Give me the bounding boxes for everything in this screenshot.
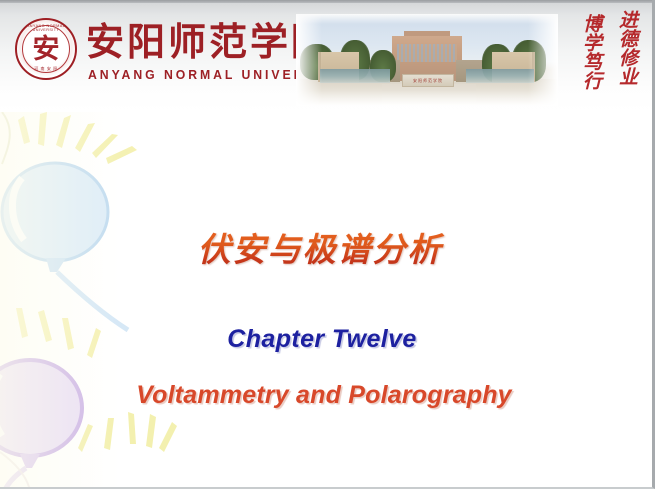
- photo-canopy-left: [320, 69, 390, 83]
- motto-right: 进德修业: [613, 10, 639, 86]
- slide-topic-english: Voltammetry and Polarography: [0, 380, 648, 410]
- slide-title-chinese: 伏安与极谱分析: [0, 230, 640, 270]
- presentation-slide: ANYANG NORMAL UNIVERSITY 安 河 南 安 阳 安阳师范学…: [0, 0, 655, 489]
- slide-chapter-label: Chapter Twelve: [0, 324, 644, 354]
- seal-bottom-text: 河 南 安 阳: [17, 66, 75, 72]
- university-seal-icon: ANYANG NORMAL UNIVERSITY 安 河 南 安 阳: [15, 18, 77, 80]
- photo-canopy-right: [466, 69, 534, 83]
- seal-center-glyph: 安: [17, 36, 75, 63]
- header-top-rule: [0, 0, 655, 3]
- slide-header-band: ANYANG NORMAL UNIVERSITY 安 河 南 安 阳 安阳师范学…: [0, 0, 655, 112]
- motto-left: 博学笃行: [577, 14, 603, 90]
- photo-gate-sign-text: 安阳师范学院: [403, 78, 453, 84]
- campus-gate-photo: 安阳师范学院: [296, 14, 558, 106]
- photo-fade-top: [296, 14, 558, 24]
- photo-fade-bottom: [296, 90, 558, 106]
- photo-gate-sign: 安阳师范学院: [402, 74, 454, 87]
- seal-arc-text: ANYANG NORMAL UNIVERSITY: [16, 24, 77, 32]
- slide-title-block: 伏安与极谱分析 Chapter Twelve Voltammetry and P…: [0, 112, 655, 489]
- photo-building-windows: [397, 44, 457, 62]
